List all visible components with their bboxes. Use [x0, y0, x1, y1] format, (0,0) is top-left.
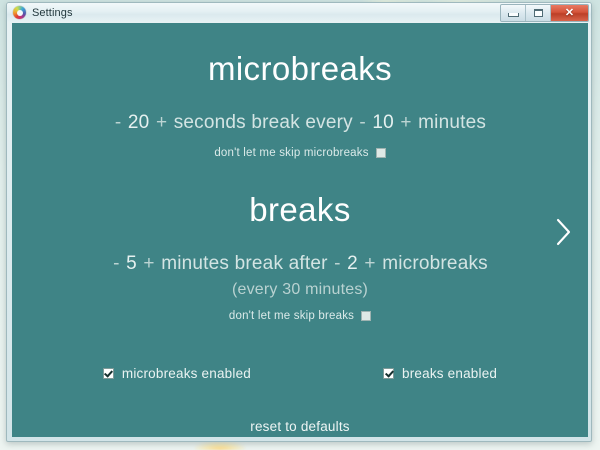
breaks-config-line: - 5 + minutes break after - 2 + microbre…	[12, 253, 588, 275]
breaks-skip-checkbox[interactable]	[361, 311, 371, 321]
chevron-right-icon[interactable]	[550, 215, 576, 249]
microbreaks-config-line: - 20 + seconds break every - 10 + minute…	[12, 112, 588, 134]
breaks-count-increment[interactable]: +	[363, 253, 376, 274]
breaks-skip-row: don't let me skip breaks	[12, 310, 588, 322]
breaks-count-decrement[interactable]: -	[333, 253, 342, 274]
microbreaks-enabled-label: microbreaks enabled	[122, 366, 251, 381]
desktop-glow-bottom	[195, 441, 245, 450]
microbreaks-interval-value: 10	[372, 112, 394, 133]
microbreaks-skip-row: don't let me skip microbreaks	[12, 147, 588, 159]
breaks-count-value: 2	[347, 253, 358, 274]
microbreaks-skip-checkbox[interactable]	[376, 148, 386, 158]
microbreaks-duration-value: 20	[128, 112, 150, 133]
microbreaks-interval-decrement[interactable]: -	[358, 112, 367, 133]
breaks-duration-unit: minutes break after	[161, 253, 327, 274]
window-titlebar[interactable]: Settings ✕	[7, 3, 591, 22]
minimize-icon	[508, 13, 519, 17]
window-title: Settings	[32, 7, 73, 19]
microbreaks-duration-increment[interactable]: +	[155, 112, 168, 133]
minimize-button[interactable]	[501, 5, 526, 21]
maximize-icon	[534, 9, 543, 17]
breaks-count-unit: microbreaks	[382, 253, 488, 274]
settings-content: microbreaks - 20 + seconds break every -…	[12, 23, 588, 437]
breaks-enabled-label: breaks enabled	[402, 366, 497, 381]
microbreaks-enabled-checkbox[interactable]	[103, 368, 114, 379]
color-wheel-icon	[13, 6, 26, 19]
breaks-duration-decrement[interactable]: -	[112, 253, 121, 274]
breaks-frequency-note: (every 30 minutes)	[12, 281, 588, 299]
microbreaks-enabled-toggle[interactable]: microbreaks enabled	[103, 366, 251, 381]
settings-window: Settings ✕ microbreaks - 20 + seconds br…	[6, 2, 592, 442]
microbreaks-interval-unit: minutes	[418, 112, 486, 133]
microbreaks-duration-unit: seconds break every	[174, 112, 353, 133]
maximize-button[interactable]	[526, 5, 551, 21]
microbreaks-duration-decrement[interactable]: -	[114, 112, 123, 133]
breaks-skip-label: don't let me skip breaks	[229, 310, 354, 322]
close-icon: ✕	[565, 8, 574, 19]
breaks-heading: breaks	[12, 191, 588, 229]
breaks-duration-increment[interactable]: +	[142, 253, 155, 274]
window-controls: ✕	[500, 4, 589, 22]
breaks-enabled-checkbox[interactable]	[383, 368, 394, 379]
enabled-toggles-row: microbreaks enabled breaks enabled	[12, 366, 588, 381]
close-button[interactable]: ✕	[551, 5, 588, 21]
microbreaks-skip-label: don't let me skip microbreaks	[214, 147, 368, 159]
breaks-enabled-toggle[interactable]: breaks enabled	[383, 366, 497, 381]
breaks-duration-value: 5	[126, 253, 137, 274]
reset-to-defaults-button[interactable]: reset to defaults	[12, 419, 588, 434]
microbreaks-heading: microbreaks	[12, 50, 588, 88]
microbreaks-interval-increment[interactable]: +	[399, 112, 412, 133]
